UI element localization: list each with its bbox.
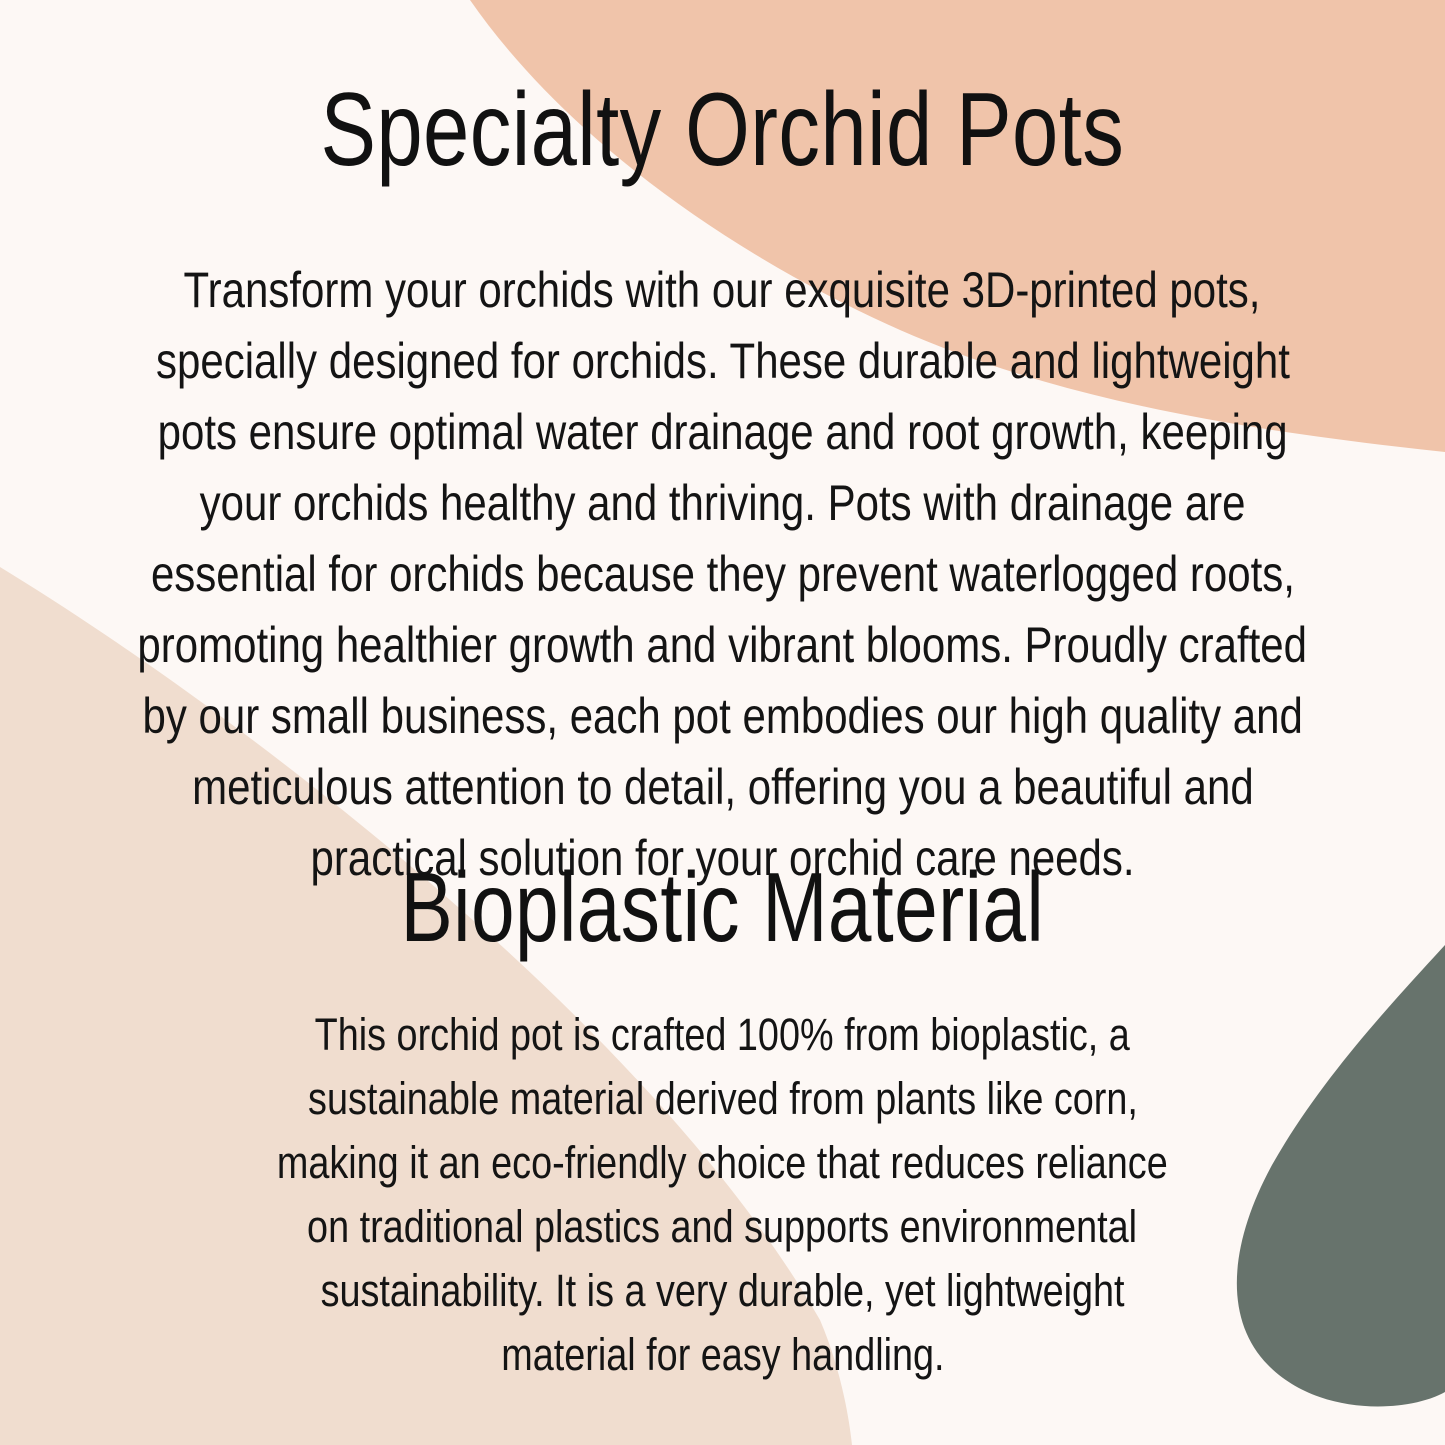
paragraph-line-text: making it an eco-friendly choice that re… bbox=[277, 1131, 1168, 1195]
paragraph-line: on traditional plastics and supports env… bbox=[0, 1195, 1445, 1259]
paragraph-line: by our small business, each pot embodies… bbox=[0, 681, 1445, 752]
paragraph-line-text: This orchid pot is crafted 100% from bio… bbox=[315, 1003, 1130, 1067]
paragraph-line: your orchids healthy and thriving. Pots … bbox=[0, 468, 1445, 539]
section-1-heading-text: Specialty Orchid Pots bbox=[321, 78, 1125, 182]
section-2-heading: Bioplastic Material bbox=[0, 858, 1445, 956]
paragraph-line: pots ensure optimal water drainage and r… bbox=[0, 397, 1445, 468]
paragraph-line: meticulous attention to detail, offering… bbox=[0, 752, 1445, 823]
paragraph-line-text: sustainability. It is a very durable, ye… bbox=[320, 1259, 1124, 1323]
paragraph-line: Transform your orchids with our exquisit… bbox=[0, 255, 1445, 326]
section-2-heading-text: Bioplastic Material bbox=[401, 858, 1045, 956]
section-2-paragraph: This orchid pot is crafted 100% from bio… bbox=[0, 1003, 1445, 1387]
paragraph-line-text: on traditional plastics and supports env… bbox=[307, 1195, 1137, 1259]
paragraph-line-text: meticulous attention to detail, offering… bbox=[192, 752, 1254, 823]
paragraph-line-text: Transform your orchids with our exquisit… bbox=[184, 255, 1261, 326]
paragraph-line-text: promoting healthier growth and vibrant b… bbox=[138, 610, 1308, 681]
section-1-heading: Specialty Orchid Pots bbox=[0, 78, 1445, 182]
paragraph-line: making it an eco-friendly choice that re… bbox=[0, 1131, 1445, 1195]
content-layer: Specialty Orchid Pots Transform your orc… bbox=[0, 0, 1445, 1445]
paragraph-line: promoting healthier growth and vibrant b… bbox=[0, 610, 1445, 681]
product-info-graphic: Specialty Orchid Pots Transform your orc… bbox=[0, 0, 1445, 1445]
paragraph-line-text: your orchids healthy and thriving. Pots … bbox=[200, 468, 1246, 539]
paragraph-line-text: material for easy handling. bbox=[501, 1323, 944, 1387]
paragraph-line: sustainable material derived from plants… bbox=[0, 1067, 1445, 1131]
paragraph-line-text: sustainable material derived from plants… bbox=[308, 1067, 1138, 1131]
section-1-paragraph: Transform your orchids with our exquisit… bbox=[0, 255, 1445, 894]
paragraph-line: material for easy handling. bbox=[0, 1323, 1445, 1387]
paragraph-line: sustainability. It is a very durable, ye… bbox=[0, 1259, 1445, 1323]
paragraph-line: This orchid pot is crafted 100% from bio… bbox=[0, 1003, 1445, 1067]
paragraph-line: essential for orchids because they preve… bbox=[0, 539, 1445, 610]
paragraph-line-text: specially designed for orchids. These du… bbox=[156, 326, 1290, 397]
paragraph-line-text: pots ensure optimal water drainage and r… bbox=[157, 397, 1287, 468]
paragraph-line-text: by our small business, each pot embodies… bbox=[142, 681, 1302, 752]
paragraph-line: specially designed for orchids. These du… bbox=[0, 326, 1445, 397]
paragraph-line-text: essential for orchids because they preve… bbox=[150, 539, 1294, 610]
